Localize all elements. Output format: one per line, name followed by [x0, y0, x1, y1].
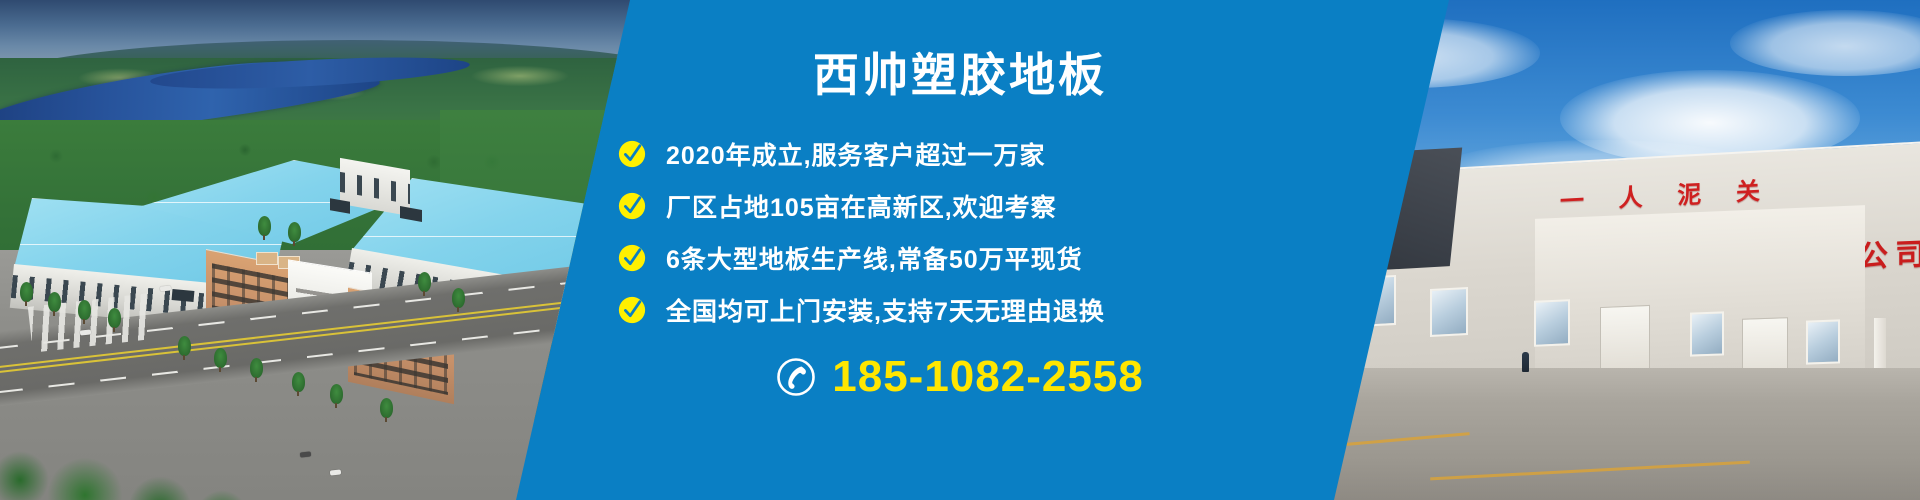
page-title: 西帅塑胶地板	[610, 52, 1310, 98]
list-item: 全国均可上门安装,支持7天无理由退换	[610, 284, 1310, 336]
tree	[330, 384, 343, 404]
check-circle-icon	[618, 244, 646, 272]
phone-handset-icon	[776, 357, 816, 397]
tree	[288, 222, 301, 242]
check-circle-icon	[618, 192, 646, 220]
tree	[380, 398, 393, 418]
tree	[48, 292, 61, 312]
list-item-label: 2020年成立,服务客户超过一万家	[666, 136, 1046, 172]
list-item: 厂区占地105亩在高新区,欢迎考察	[610, 180, 1310, 232]
person	[1522, 352, 1529, 372]
promo-banner: 一 人 泥 关 河北龙藤科技有限公司 西帅塑胶地板 2020年成立,服务客户超过	[0, 0, 1920, 500]
window	[1430, 287, 1468, 337]
tree	[20, 282, 33, 302]
entrance-door	[1600, 305, 1650, 375]
list-item: 6条大型地板生产线,常备50万平现货	[610, 232, 1310, 284]
list-item-label: 厂区占地105亩在高新区,欢迎考察	[666, 188, 1057, 224]
tree	[108, 308, 121, 328]
window	[1806, 319, 1840, 364]
list-item: 2020年成立,服务客户超过一万家	[610, 128, 1310, 180]
window-strip	[340, 172, 410, 205]
contact-phone-row[interactable]: 185-1082-2558	[610, 352, 1310, 402]
selling-points-list: 2020年成立,服务客户超过一万家 厂区占地105亩在高新区,欢迎考察 6条大型…	[610, 128, 1310, 336]
window	[1690, 311, 1724, 356]
list-item-label: 6条大型地板生产线,常备50万平现货	[666, 240, 1083, 276]
banner-content: 西帅塑胶地板 2020年成立,服务客户超过一万家 厂区占地105亩在高新区,欢迎…	[610, 0, 1310, 500]
phone-number: 185-1082-2558	[832, 352, 1143, 402]
tree	[452, 288, 465, 308]
roof-seam	[14, 244, 288, 245]
loading-door	[172, 289, 195, 302]
window	[1534, 299, 1570, 347]
foreground-trees	[0, 330, 320, 500]
list-item-label: 全国均可上门安装,支持7天无理由退换	[666, 292, 1105, 328]
check-circle-icon	[618, 296, 646, 324]
check-circle-icon	[618, 140, 646, 168]
roof-unit	[256, 252, 278, 265]
tree	[418, 272, 431, 292]
tree	[78, 300, 91, 320]
tree	[258, 216, 271, 236]
